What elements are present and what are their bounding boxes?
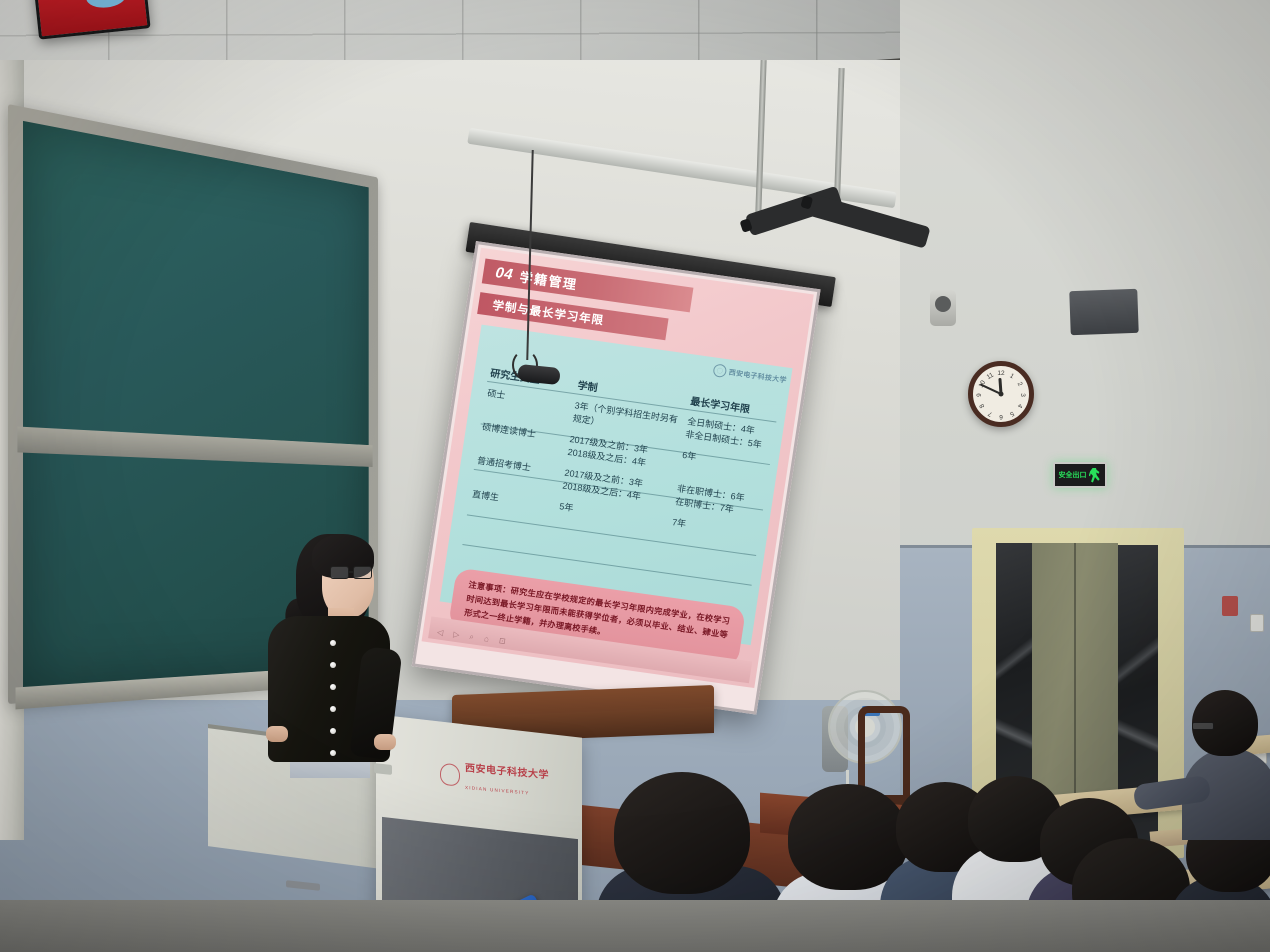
floor — [0, 900, 1270, 952]
projection-screen[interactable]: 04 学籍管理 学制与最长学习年限 西安电子科技大学 研究生类型 学制 最长学习… — [412, 241, 821, 715]
clock-face: 12 1 2 3 4 5 6 7 8 9 10 11 — [973, 366, 1029, 422]
university-logo-mark — [712, 363, 727, 378]
clock-numeral: 6 — [999, 413, 1003, 420]
presentation-slide: 04 学籍管理 学制与最长学习年限 西安电子科技大学 研究生类型 学制 最长学习… — [422, 248, 814, 688]
running-person-icon — [1089, 468, 1102, 483]
podium-logo-en: XIDIAN UNIVERSITY — [465, 785, 530, 796]
clock-numeral: 12 — [997, 370, 1004, 377]
glasses-lens-right — [353, 566, 372, 579]
clock-numeral: 11 — [986, 372, 995, 381]
clock-numeral: 1 — [1008, 372, 1015, 380]
wall-clock: 12 1 2 3 4 5 6 7 8 9 10 11 — [968, 361, 1034, 427]
podium-logo-mark — [440, 763, 460, 787]
student-glasses-icon — [1192, 722, 1214, 730]
emergency-exit-sign: 安全出口 — [1053, 462, 1107, 488]
clock-numeral: 5 — [1008, 410, 1015, 418]
student-head — [614, 772, 750, 894]
clock-numeral: 3 — [1019, 393, 1026, 397]
wall-outlet-icon — [1250, 614, 1264, 632]
slide-subtitle: 学制与最长学习年限 — [491, 297, 605, 328]
clock-center-pin — [999, 392, 1004, 397]
glasses-lens-left — [330, 566, 349, 579]
presenter-hand — [266, 726, 288, 742]
podium-logo-cn: 西安电子科技大学 — [465, 763, 549, 781]
lecture-hall-scene: 04 学籍管理 学制与最长学习年限 西安电子科技大学 研究生类型 学制 最长学习… — [0, 0, 1270, 952]
presenter-hand — [374, 734, 396, 750]
podium-control-button[interactable] — [374, 763, 392, 775]
wall-speaker-icon — [930, 290, 956, 326]
presenter-glasses — [330, 566, 374, 580]
wall-mounted-equipment-box — [1069, 289, 1138, 335]
slide-note-label: 注意事项： — [468, 581, 512, 596]
fire-alarm-icon — [1222, 596, 1238, 616]
clock-numeral: 8 — [978, 402, 986, 409]
cardigan-buttons — [330, 640, 338, 750]
exit-sign-text: 安全出口 — [1059, 470, 1087, 480]
clock-numeral: 2 — [1016, 381, 1024, 388]
clock-numeral: 4 — [1016, 402, 1024, 409]
slide-section-number: 04 — [494, 264, 514, 283]
clock-numeral: 9 — [976, 393, 983, 397]
clock-numeral: 7 — [987, 410, 994, 418]
